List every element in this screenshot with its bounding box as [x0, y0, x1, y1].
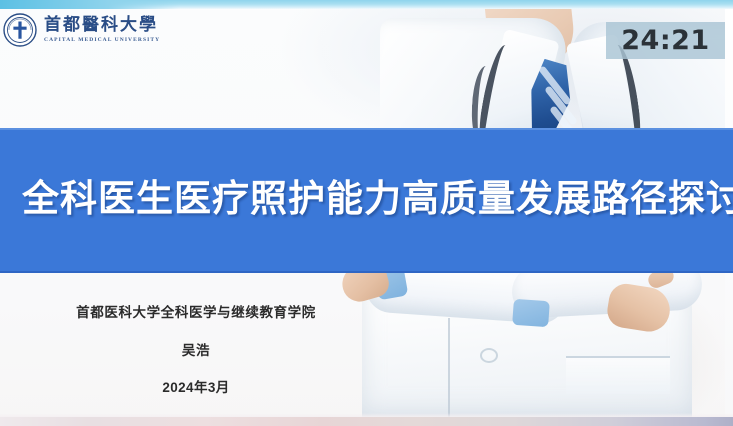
coat-seam: [448, 318, 450, 418]
presenter-name: 吴浩: [20, 343, 372, 359]
coat-button: [480, 348, 498, 363]
university-logo: 首都醫科大學 CAPITAL MEDICAL UNIVERSITY: [2, 9, 154, 51]
countdown-timer-value: 24:21: [621, 27, 709, 54]
top-accent-sheen: [0, 0, 180, 9]
university-name-cn: 首都醫科大學: [44, 17, 160, 35]
university-name-en: CAPITAL MEDICAL UNIVERSITY: [44, 37, 160, 43]
title-band-bottom-edge: [0, 271, 733, 273]
shirt-cuff-right: [512, 299, 550, 327]
slide-title: 全科医生医疗照护能力高质量发展路径探讨: [22, 178, 712, 221]
presenter-organization: 首都医科大学全科医学与继续教育学院: [20, 305, 372, 321]
doctor-crossed-arms-photo: [330, 262, 733, 418]
university-crest-icon: [2, 12, 38, 48]
presenter-block: 首都医科大学全科医学与继续教育学院 吴浩 2024年3月: [20, 305, 372, 397]
title-band-top-edge: [0, 128, 733, 130]
university-logo-text: 首都醫科大學 CAPITAL MEDICAL UNIVERSITY: [44, 17, 160, 43]
top-accent-strip: [0, 0, 733, 9]
presentation-date: 2024年3月: [20, 380, 372, 396]
countdown-timer: 24:21: [606, 22, 725, 59]
presentation-slide: 首都醫科大學 CAPITAL MEDICAL UNIVERSITY 24:21 …: [0, 0, 733, 426]
bottom-accent-strip: [0, 417, 733, 426]
coat-pocket: [566, 356, 670, 394]
